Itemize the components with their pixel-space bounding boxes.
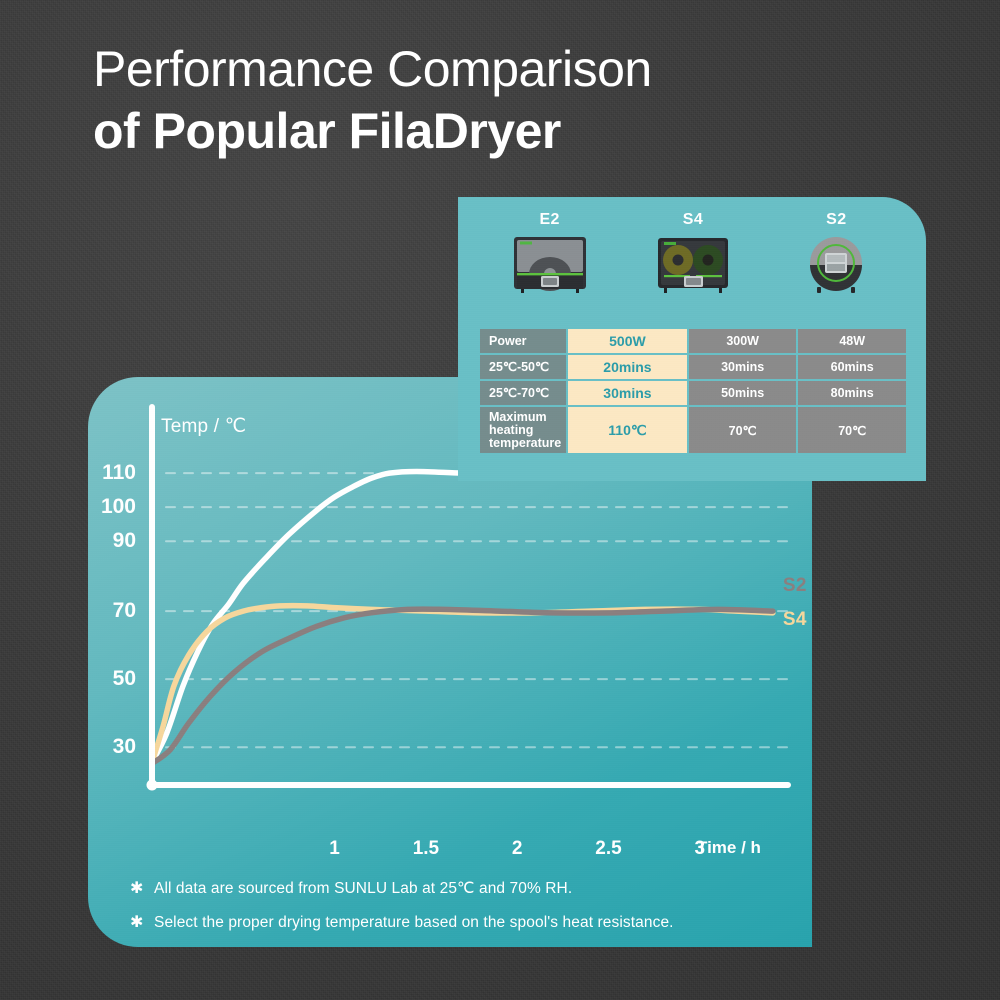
page-title-line1: Performance Comparison	[93, 38, 853, 100]
table-row: 25℃-50℃20mins30mins60mins	[480, 355, 906, 379]
x-tick-label: 2	[512, 838, 523, 860]
footnote-item: ✱ All data are sourced from SUNLU Lab at…	[130, 880, 674, 898]
spec-value-s2: 80mins	[798, 381, 906, 405]
page-title: Performance Comparison of Popular FilaDr…	[93, 38, 853, 162]
product-name-e2: E2	[539, 211, 559, 229]
spec-value-s2: 60mins	[798, 355, 906, 379]
spec-value-s2: 48W	[798, 329, 906, 353]
y-tick-label: 110	[88, 461, 136, 485]
series-line-s2	[152, 609, 773, 764]
y-tick-label: 50	[88, 667, 136, 691]
spec-value-s4: 30mins	[689, 355, 797, 379]
table-row: Power500W300W48W	[480, 329, 906, 353]
spec-value-e2: 20mins	[568, 355, 687, 379]
x-axis-title: Time / h	[697, 838, 761, 858]
series-line-e2	[152, 471, 773, 762]
series-label-s4: S4	[783, 609, 807, 631]
spec-label: Maximum heating temperature	[480, 407, 566, 453]
product-name-s4: S4	[683, 211, 703, 229]
product-header-row: E2 S4	[478, 211, 908, 321]
footnote-text: Select the proper drying temperature bas…	[154, 914, 674, 932]
asterisk-icon: ✱	[130, 914, 154, 932]
y-tick-label: 70	[88, 599, 136, 623]
spec-value-e2: 110℃	[568, 407, 687, 453]
spec-value-s2: 70℃	[798, 407, 906, 453]
table-row: Maximum heating temperature110℃70℃70℃	[480, 407, 906, 453]
table-row: 25℃-70℃30mins50mins80mins	[480, 381, 906, 405]
footnotes: ✱ All data are sourced from SUNLU Lab at…	[130, 880, 674, 948]
comparison-table-card: E2 S4	[458, 197, 926, 481]
product-name-s2: S2	[826, 211, 846, 229]
product-column-e2: E2	[478, 211, 621, 321]
origin-marker	[147, 780, 158, 791]
filadryer-s2-round-icon	[803, 234, 869, 301]
y-tick-label: 90	[88, 529, 136, 553]
asterisk-icon: ✱	[130, 880, 154, 898]
y-tick-label: 30	[88, 735, 136, 759]
y-tick-label: 100	[88, 495, 136, 519]
spec-value-s4: 50mins	[689, 381, 797, 405]
spec-value-e2: 500W	[568, 329, 687, 353]
x-tick-label: 1	[329, 838, 340, 860]
spec-value-e2: 30mins	[568, 381, 687, 405]
spec-label: 25℃-50℃	[480, 355, 566, 379]
filadryer-e2-box-icon	[510, 234, 590, 301]
series-line-s4	[152, 606, 773, 763]
page-title-line2: of Popular FilaDryer	[93, 100, 853, 162]
spec-value-s4: 70℃	[689, 407, 797, 453]
spec-label: Power	[480, 329, 566, 353]
x-tick-label: 1.5	[413, 838, 439, 860]
footnote-item: ✱ Select the proper drying temperature b…	[130, 914, 674, 932]
filadryer-s4-dual-spool-icon	[655, 234, 731, 301]
x-tick-label: 2.5	[595, 838, 621, 860]
spec-value-s4: 300W	[689, 329, 797, 353]
spec-label: 25℃-70℃	[480, 381, 566, 405]
x-tick-label: 3	[695, 838, 706, 860]
product-column-s4: S4	[621, 211, 764, 321]
footnote-text: All data are sourced from SUNLU Lab at 2…	[154, 880, 572, 898]
spec-comparison-table: Power500W300W48W25℃-50℃20mins30mins60min…	[478, 327, 908, 455]
series-label-s2: S2	[783, 575, 807, 597]
y-axis-title: Temp / ℃	[161, 415, 246, 438]
product-column-s2: S2	[765, 211, 908, 321]
